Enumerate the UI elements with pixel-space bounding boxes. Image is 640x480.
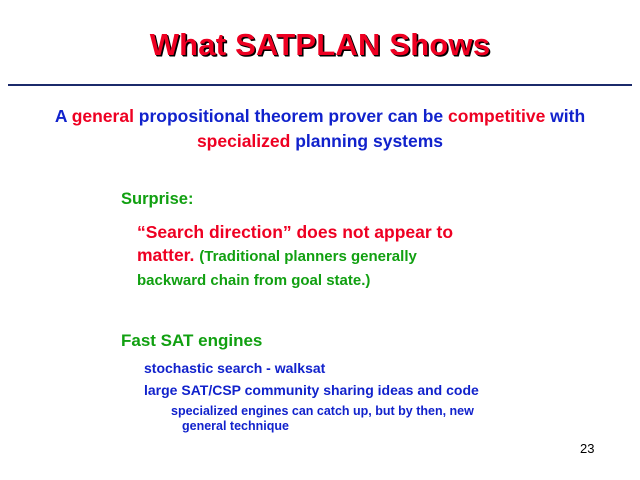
lead-run-b: propositional theorem prover can be: [134, 106, 443, 126]
lead-run-general: general: [72, 106, 134, 126]
slide-title: What SATPLAN Shows: [0, 26, 640, 64]
bullet-fast-sat-heading: Fast SAT engines: [121, 331, 262, 351]
lead-run-c: with: [545, 106, 585, 126]
lead-run-d: planning systems: [290, 131, 443, 151]
bullet-parenthetical-part2: backward chain from goal state.): [137, 272, 370, 289]
bullet-parenthetical-part1: (Traditional planners generally: [199, 248, 417, 265]
lead-statement: A general propositional theorem prover c…: [48, 104, 592, 154]
bullet-surprise-heading: Surprise:: [121, 190, 193, 209]
bullet-sat-csp-community: large SAT/CSP community sharing ideas an…: [144, 382, 479, 398]
title-divider-rule: [8, 84, 632, 86]
page-number: 23: [580, 441, 594, 456]
slide-canvas: What SATPLAN Shows A general proposition…: [0, 0, 640, 480]
bullet-matter-word: matter.: [137, 245, 194, 265]
lead-run-specialized: specialized: [197, 131, 290, 151]
bullet-stochastic-search: stochastic search - walksat: [144, 360, 325, 376]
bullet-matter-line: matter. (Traditional planners generally: [137, 245, 417, 266]
lead-run-competitive: competitive: [448, 106, 545, 126]
bullet-specialized-engines-line2: general technique: [182, 419, 289, 433]
lead-run-a: A: [55, 106, 72, 126]
bullet-search-direction-line: “Search direction” does not appear to: [137, 220, 453, 245]
bullet-specialized-engines-line1: specialized engines can catch up, but by…: [171, 404, 474, 418]
